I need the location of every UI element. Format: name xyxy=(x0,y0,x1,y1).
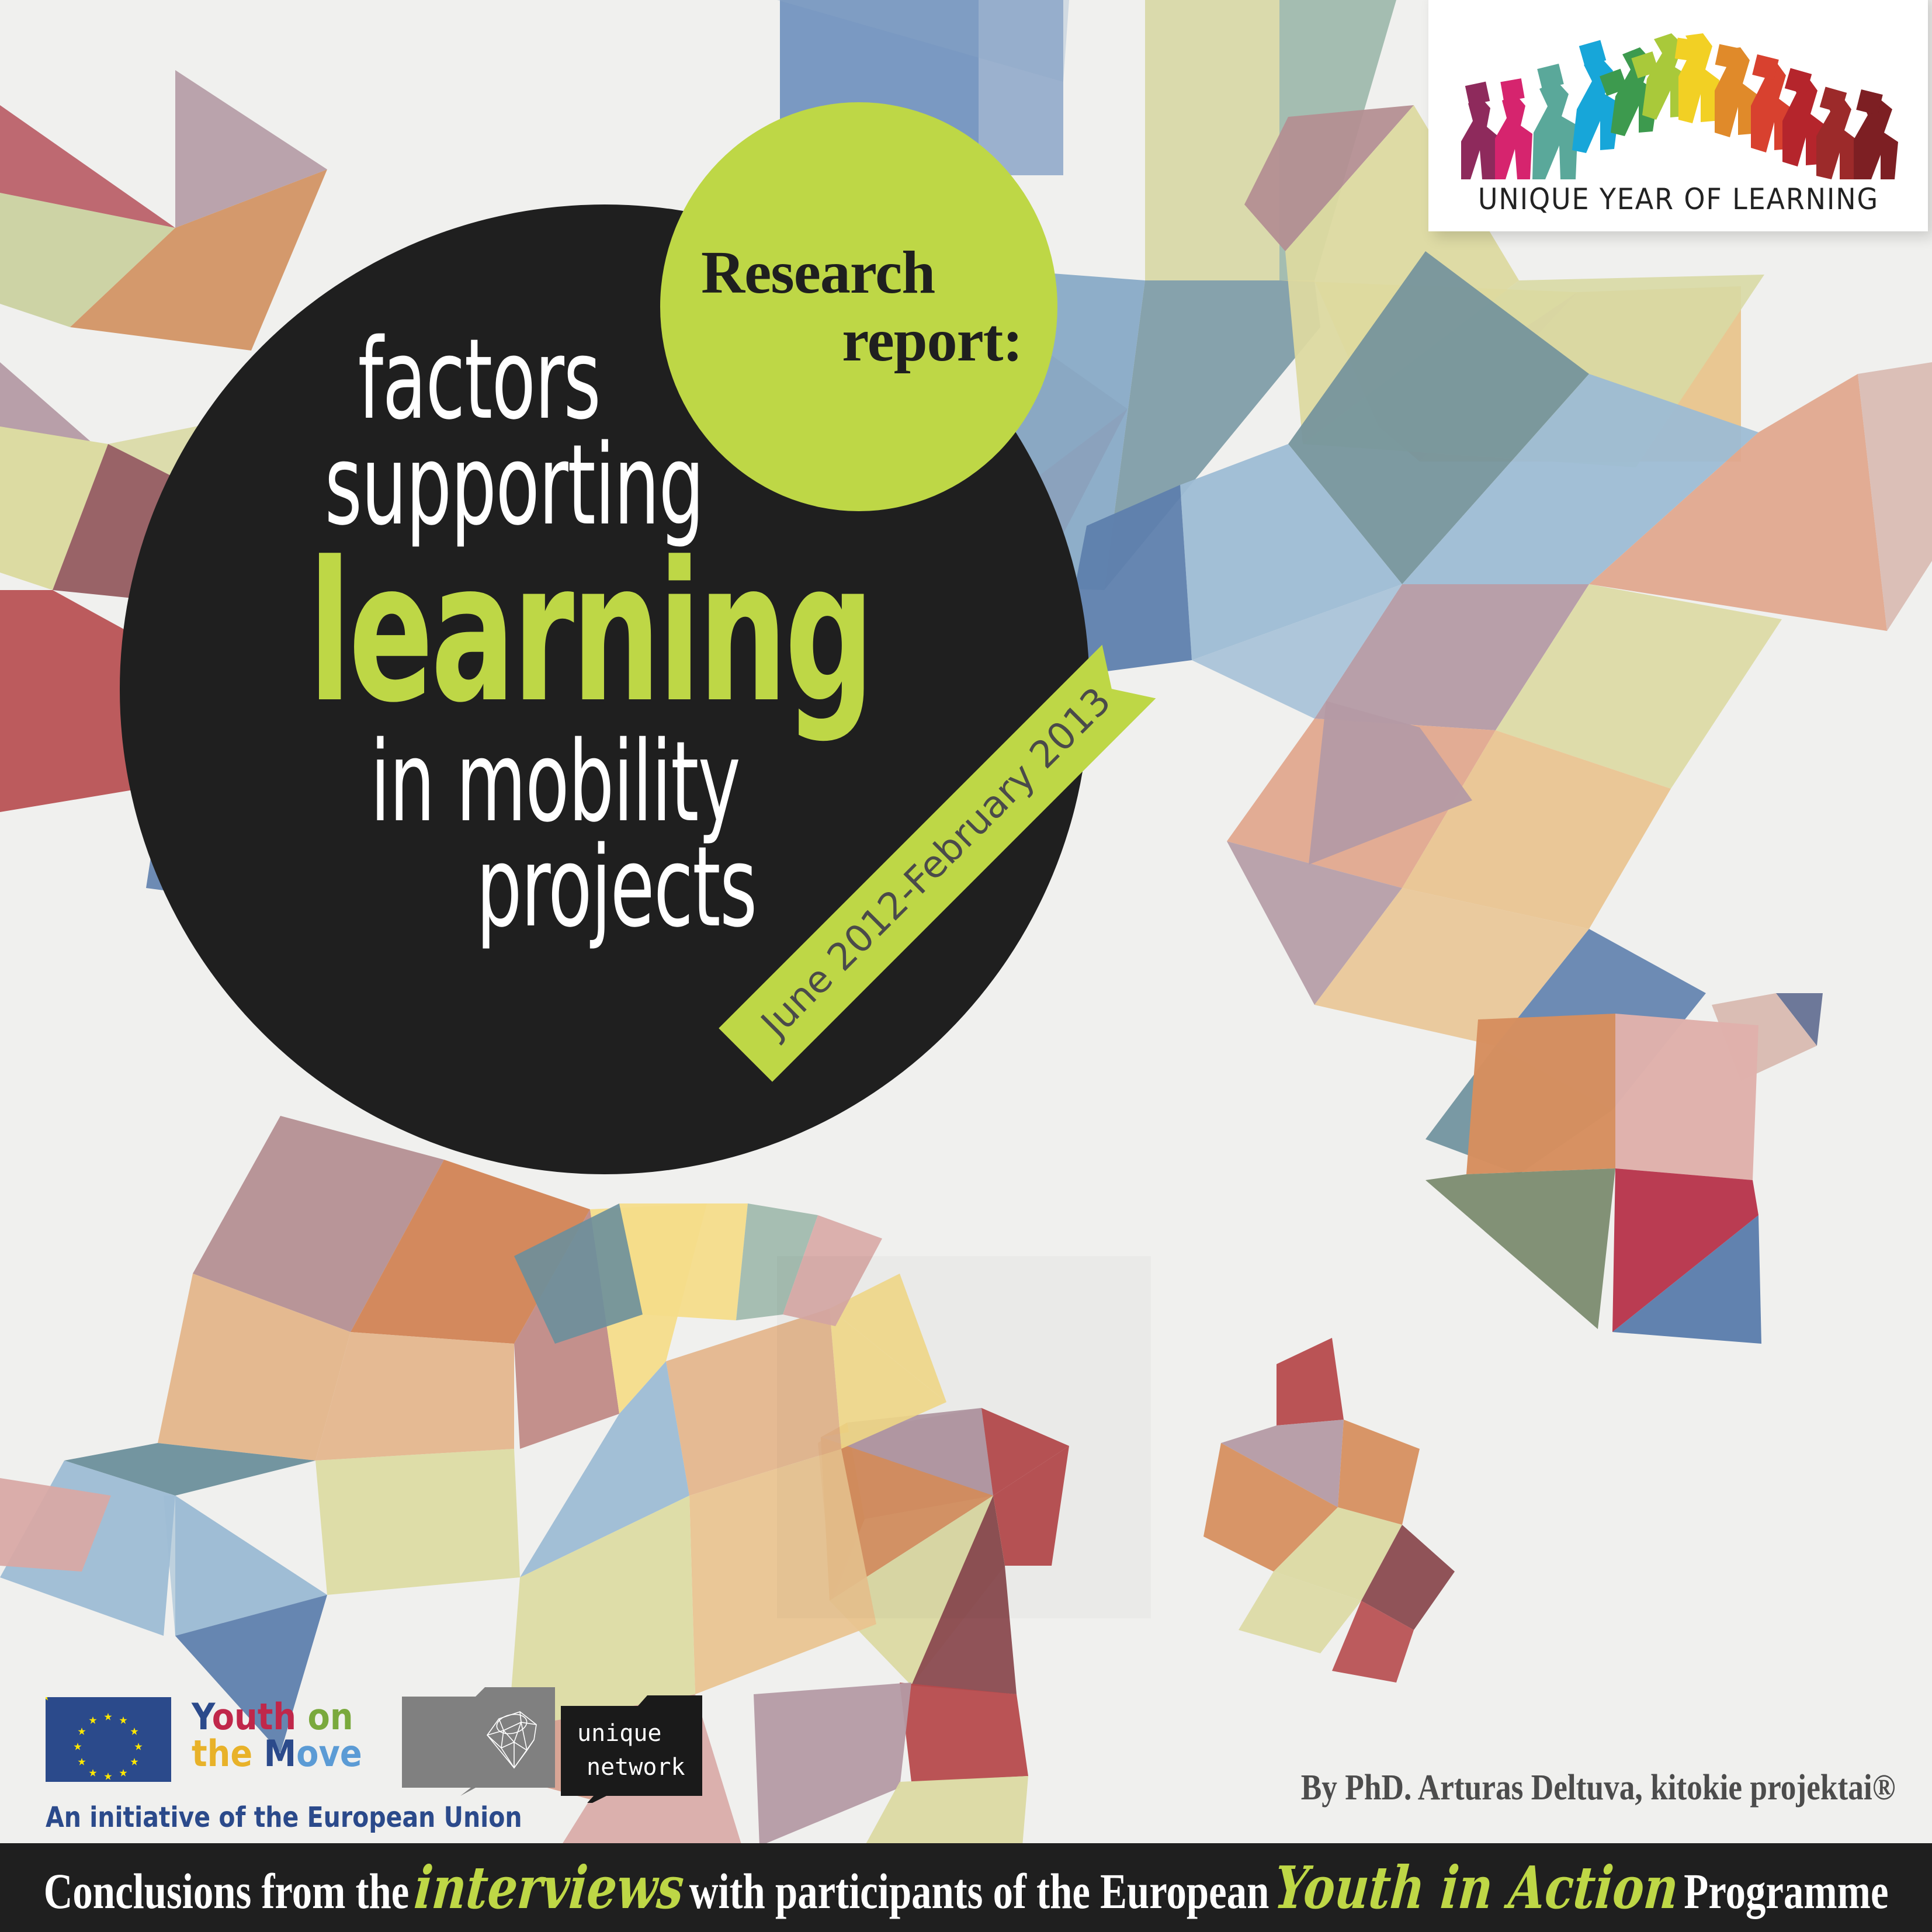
author-credit: By PhD. Arturas Deltuva, kitokie projekt… xyxy=(1301,1767,1896,1809)
bb-highlight-youth-in-action: Youth in Action xyxy=(1266,1853,1687,1922)
unique-network-wordmark: unique network xyxy=(577,1716,685,1784)
title-line-mobility: in mobility xyxy=(202,730,908,835)
badge-line-1: Research xyxy=(701,239,935,307)
unique-network-text-bubble: unique network xyxy=(561,1695,702,1803)
yom-y: Y xyxy=(192,1695,212,1738)
bottom-banner-text: Conclusions from the interviews with par… xyxy=(44,1853,1889,1922)
bb-part-3: Programme xyxy=(1684,1862,1888,1920)
uyl-wordmark: UNIQUE YEAR OF LEARNING xyxy=(1477,182,1878,216)
bb-part-2: with participants of the European xyxy=(689,1862,1269,1920)
youth-on-the-move-logo: Youth on the Move An initiative of the E… xyxy=(46,1697,396,1843)
un-line-1: unique xyxy=(577,1716,685,1750)
youth-on-the-move-wordmark: Youth on the Move xyxy=(192,1698,362,1772)
yom-on: on xyxy=(308,1695,353,1738)
research-report-badge: Research report: xyxy=(660,102,1057,511)
title-line-learning: learning xyxy=(262,542,918,725)
yom-outh: outh xyxy=(212,1695,296,1738)
yom-m: M xyxy=(264,1732,297,1775)
running-figures-icon xyxy=(1445,33,1912,182)
un-line-2: network xyxy=(587,1750,685,1784)
diamond-wireframe-icon xyxy=(478,1705,548,1775)
bottom-banner: Conclusions from the interviews with par… xyxy=(0,1843,1932,1932)
yom-the: the xyxy=(192,1732,252,1775)
badge-line-2: report: xyxy=(842,307,1022,374)
poster-canvas: factors supporting learning in mobility … xyxy=(0,0,1932,1932)
bb-part-1: Conclusions from the xyxy=(44,1862,410,1920)
eu-initiative-subtitle: An initiative of the European Union xyxy=(46,1801,522,1834)
yom-ove: ove xyxy=(296,1732,362,1775)
bb-highlight-interviews: interviews xyxy=(406,1853,692,1922)
unique-year-of-learning-logo: UNIQUE YEAR OF LEARNING xyxy=(1428,0,1928,231)
eu-stars-icon xyxy=(46,1697,171,1782)
